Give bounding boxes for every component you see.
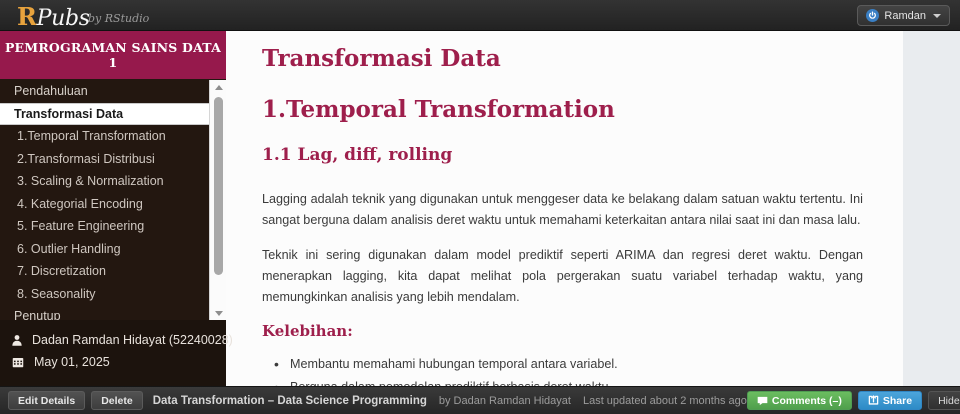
rpubs-page: RPubs by RStudio Ramdan PEMROGRAMAN SAIN… xyxy=(0,0,960,414)
sidebar-item-3-scaling-normalization[interactable]: 3. Scaling & Normalization xyxy=(0,170,226,193)
sidebar-item-label: 6. Outlier Handling xyxy=(17,242,121,256)
section-heading: 1.Temporal Transformation xyxy=(262,96,863,124)
sidebar-item-penutup[interactable]: Penutup xyxy=(0,305,226,320)
sidebar-header: PEMROGRAMAN SAINS DATA 1 xyxy=(0,31,226,80)
share-button[interactable]: Share xyxy=(858,391,922,410)
sidebar-item-label: 1.Temporal Transformation xyxy=(17,129,166,143)
logo-text: Pubs xyxy=(37,6,90,31)
last-updated: Last updated about 2 months ago xyxy=(583,395,747,407)
comment-bubble-icon xyxy=(757,396,768,406)
sidebar-item-pendahuluan[interactable]: Pendahuluan xyxy=(0,80,226,103)
paragraph-2: Teknik ini sering digunakan dalam model … xyxy=(262,245,863,308)
logo-byline: by RStudio xyxy=(88,12,149,25)
sidebar-item-label: Penutup xyxy=(14,309,61,320)
top-navbar: RPubs by RStudio Ramdan xyxy=(0,0,960,31)
sidebar-item-label: Pendahuluan xyxy=(14,84,88,98)
edit-details-button[interactable]: Edit Details xyxy=(8,391,85,410)
calendar-icon xyxy=(11,355,25,369)
hide-toolbars-button[interactable]: Hide Toolbars xyxy=(928,391,960,410)
subsection-heading: 1.1 Lag, diff, rolling xyxy=(262,145,863,165)
document-title: Data Transformation – Data Science Progr… xyxy=(153,395,427,407)
power-icon xyxy=(866,9,879,22)
comments-button[interactable]: Comments (–) xyxy=(747,391,852,410)
logo-letter-r: R xyxy=(17,2,37,31)
page-title: Transformasi Data xyxy=(262,45,863,73)
sidebar-scrollbar[interactable] xyxy=(209,80,226,320)
sidebar-item-2-transformasi-distribusi[interactable]: 2.Transformasi Distribusi xyxy=(0,148,226,171)
sidebar-item-label: 8. Seasonality xyxy=(17,287,96,301)
sidebar-scrollbar-thumb[interactable] xyxy=(214,97,223,275)
date-row: May 01, 2025 xyxy=(11,351,226,373)
comments-label: Comments (–) xyxy=(772,395,842,407)
publish-date: May 01, 2025 xyxy=(34,355,110,369)
sidebar-item-5-feature-engineering[interactable]: 5. Feature Engineering xyxy=(0,215,226,238)
document-byline: by Dadan Ramdan Hidayat xyxy=(439,395,571,407)
content-area: Transformasi Data 1.Temporal Transformat… xyxy=(226,31,960,386)
list-item: Berguna dalam pemodelan prediktif berbas… xyxy=(262,377,863,386)
sidebar-item-7-discretization[interactable]: 7. Discretization xyxy=(0,260,226,283)
user-menu-button[interactable]: Ramdan xyxy=(857,5,950,26)
sidebar-item-4-kategorial-encoding[interactable]: 4. Kategorial Encoding xyxy=(0,193,226,216)
user-menu-label: Ramdan xyxy=(884,10,926,22)
sidebar-item-label: 2.Transformasi Distribusi xyxy=(17,152,155,166)
list-item: Membantu memahami hubungan temporal anta… xyxy=(262,354,863,375)
author-row: Dadan Ramdan Hidayat (52240028) xyxy=(11,329,226,351)
sidebar-item-label: 3. Scaling & Normalization xyxy=(17,174,164,188)
share-label: Share xyxy=(883,395,912,407)
delete-button[interactable]: Delete xyxy=(91,391,143,410)
sidebar-item-6-outlier-handling[interactable]: 6. Outlier Handling xyxy=(0,238,226,261)
sidebar-item-label: Transformasi Data xyxy=(14,107,123,121)
scroll-up-arrow-icon[interactable] xyxy=(210,80,226,94)
chevron-down-icon xyxy=(933,14,941,18)
sidebar-item-transformasi-data[interactable]: Transformasi Data xyxy=(0,103,226,126)
table-of-contents: PendahuluanTransformasi Data1.Temporal T… xyxy=(0,80,226,320)
document-paper: Transformasi Data 1.Temporal Transformat… xyxy=(226,31,903,386)
person-icon xyxy=(11,333,23,347)
sidebar-item-8-seasonality[interactable]: 8. Seasonality xyxy=(0,283,226,306)
sidebar-header-title: PEMROGRAMAN SAINS DATA 1 xyxy=(0,40,226,70)
sidebar-item-label: 5. Feature Engineering xyxy=(17,219,144,233)
sidebar-item-1-temporal-transformation[interactable]: 1.Temporal Transformation xyxy=(0,125,226,148)
sidebar-item-label: 7. Discretization xyxy=(17,264,106,278)
advantages-heading: Kelebihan: xyxy=(262,322,863,340)
share-arrow-icon xyxy=(868,395,879,406)
scroll-down-arrow-icon[interactable] xyxy=(210,306,226,320)
rpubs-logo[interactable]: RPubs xyxy=(17,2,90,31)
sidebar: PEMROGRAMAN SAINS DATA 1 PendahuluanTran… xyxy=(0,31,226,386)
bottom-toolbar: Edit Details Delete Data Transformation … xyxy=(0,386,960,414)
paragraph-1: Lagging adalah teknik yang digunakan unt… xyxy=(262,189,863,231)
sidebar-footer: Dadan Ramdan Hidayat (52240028) May 01, … xyxy=(0,320,226,386)
author-name: Dadan Ramdan Hidayat (52240028) xyxy=(32,333,233,347)
sidebar-item-label: 4. Kategorial Encoding xyxy=(17,197,143,211)
advantages-list: Membantu memahami hubungan temporal anta… xyxy=(262,354,863,386)
